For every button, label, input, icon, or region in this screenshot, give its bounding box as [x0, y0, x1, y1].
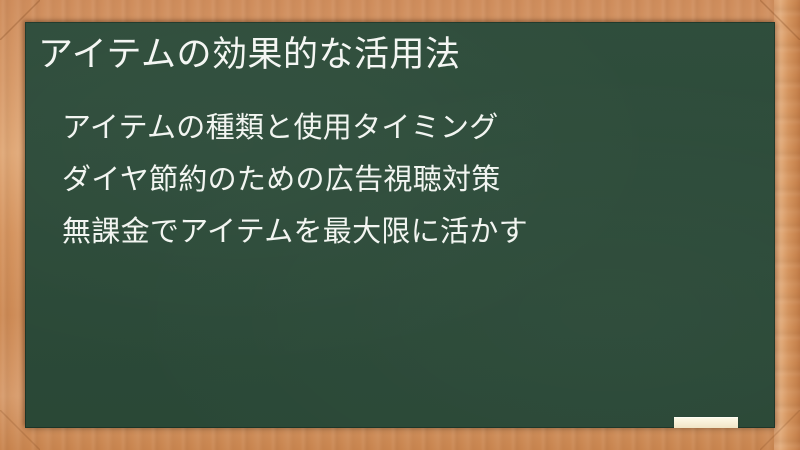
slide-title: アイテムの効果的な活用法 [38, 32, 748, 78]
wooden-frame-right-stile [774, 0, 800, 450]
bullet-item: 無課金でアイテムを最大限に活かす [62, 205, 752, 257]
wooden-frame-left-stile [0, 0, 26, 450]
blackboard-surface: アイテムの効果的な活用法 アイテムの種類と使用タイミング ダイヤ節約のための広告… [25, 22, 775, 428]
bullet-item: アイテムの種類と使用タイミング [62, 101, 752, 153]
bullet-list: アイテムの種類と使用タイミング ダイヤ節約のための広告視聴対策 無課金でアイテム… [62, 101, 752, 257]
chalk-eraser-icon [674, 417, 738, 428]
bullet-item: ダイヤ節約のための広告視聴対策 [62, 153, 752, 205]
blackboard-slide: アイテムの効果的な活用法 アイテムの種類と使用タイミング ダイヤ節約のための広告… [0, 0, 800, 450]
